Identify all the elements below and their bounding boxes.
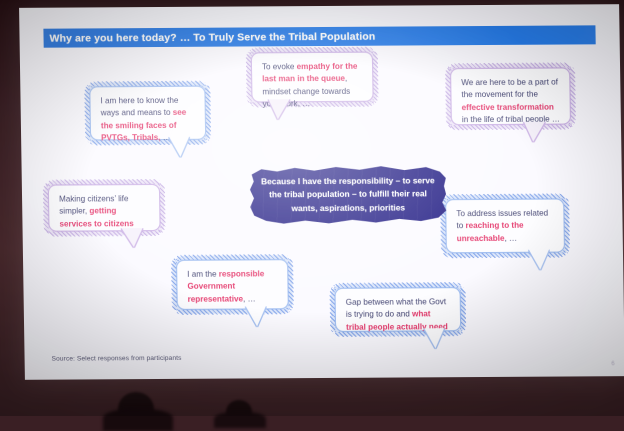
bubble-tail: [524, 122, 545, 142]
bubble-text-plain-2: in the life of tribal people …: [462, 114, 560, 124]
bubble-tail: [269, 99, 290, 119]
bubble-text-plain-1: To evoke: [262, 62, 297, 71]
audience-shoulders-silhouette-2: [214, 412, 266, 428]
bubble-text-highlight: effective transformation: [462, 102, 554, 112]
bubble-text: We are here to be a part of the movement…: [451, 68, 570, 124]
bubble-text: To address issues related to reaching to…: [446, 200, 564, 253]
bubble-text-plain-2: , …: [504, 233, 517, 242]
speech-bubble-gap-tribal-needs: Gap between what the Govt is trying to d…: [336, 288, 461, 331]
speech-bubble-getting-services: Making citizens’ life simpler, getting s…: [49, 185, 160, 231]
speech-bubble-empathy: To evoke empathy for the last man in the…: [252, 53, 373, 102]
bubble-tail: [169, 137, 189, 157]
bubble-tail: [122, 228, 143, 247]
bubble-text: To evoke empathy for the last man in the…: [252, 53, 373, 102]
slide-canvas: Why are you here today? … To Truly Serve…: [19, 4, 624, 380]
bubble-text-plain-1: I am the: [187, 270, 219, 279]
bubble-text-plain-1: We are here to be a part of the movement…: [461, 78, 558, 100]
speech-bubble-responsible-government: I am the responsible Government represen…: [177, 260, 288, 309]
speech-bubble-smiling-faces: I am here to know the ways and means to …: [90, 87, 205, 140]
bubble-text-plain-2: , …: [243, 294, 256, 303]
bubble-tail: [424, 328, 444, 348]
bubble-text: Making citizens’ life simpler, getting s…: [49, 185, 160, 231]
slide-title-bar: Why are you here today? … To Truly Serve…: [43, 25, 595, 47]
bubble-text: I am here to know the ways and means to …: [90, 87, 205, 140]
source-note: Source: Select responses from participan…: [52, 355, 182, 363]
bubble-text: Gap between what the Govt is trying to d…: [336, 288, 461, 331]
audience-shoulders-silhouette: [103, 409, 173, 431]
speech-bubble-reaching-unreachable: To address issues related to reaching to…: [446, 200, 564, 253]
bubble-text-plain-1: Gap between what the Govt is trying to d…: [346, 297, 446, 319]
slide-title: Why are you here today? … To Truly Serve…: [43, 30, 375, 44]
page-number: 6: [611, 361, 614, 367]
central-callout: Because I have the responsibility – to s…: [250, 165, 447, 224]
bubble-text: I am the responsible Government represen…: [177, 260, 288, 309]
projected-slide: Why are you here today? … To Truly Serve…: [19, 4, 624, 380]
callout-text: Because I have the responsibility – to s…: [250, 165, 447, 224]
bubble-tail: [246, 306, 266, 326]
bubble-text-plain-1: I am here to know the ways and means to: [100, 96, 178, 118]
bubble-tail: [529, 250, 549, 270]
speech-bubble-effective-transformation: We are here to be a part of the movement…: [451, 68, 570, 124]
